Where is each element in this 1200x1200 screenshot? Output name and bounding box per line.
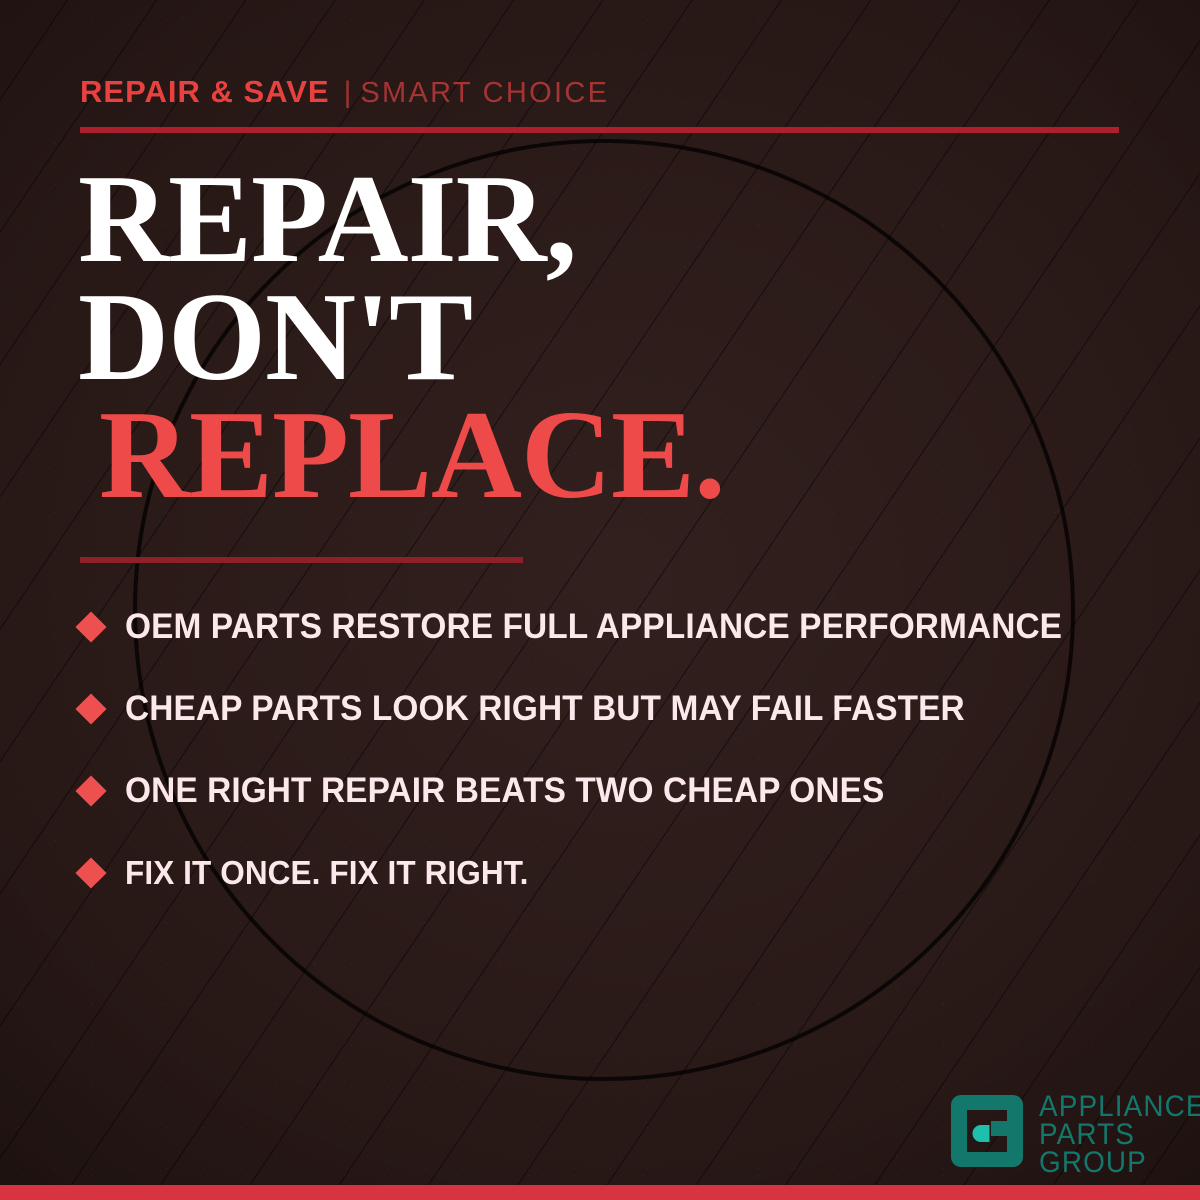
diamond-bullet-icon xyxy=(75,775,106,806)
list-item: ONE RIGHT REPAIR BEATS TWO CHEAP ONES xyxy=(80,750,1150,832)
headline-line-3: REPLACE. xyxy=(99,397,725,515)
headline-divider-rule xyxy=(80,557,523,563)
diamond-bullet-icon xyxy=(75,693,106,724)
list-item-label: FIX IT ONCE. FIX IT RIGHT. xyxy=(125,854,528,892)
brand-line-2: PARTS xyxy=(1039,1121,1200,1149)
list-item: FIX IT ONCE. FIX IT RIGHT. xyxy=(80,832,1150,914)
brand-line-3: GROUP xyxy=(1039,1149,1200,1177)
kicker-eyebrow: REPAIR & SAVE | SMART CHOICE xyxy=(80,74,609,110)
header-divider-rule xyxy=(80,127,1119,133)
brand-line-1: APPLIANCE xyxy=(1039,1093,1200,1121)
list-item-label: OEM PARTS RESTORE FULL APPLIANCE PERFORM… xyxy=(125,607,1062,647)
list-item: CHEAP PARTS LOOK RIGHT BUT MAY FAIL FAST… xyxy=(80,668,1150,750)
kicker-main-label: REPAIR & SAVE xyxy=(80,74,330,110)
kicker-separator: | xyxy=(344,76,352,110)
page-title: REPAIR, DON'T REPLACE. xyxy=(78,161,725,514)
brand-logo: APPLIANCE PARTS GROUP xyxy=(948,1091,1200,1177)
bottom-accent-bar xyxy=(0,1185,1200,1200)
poster-canvas: REPAIR & SAVE | SMART CHOICE REPAIR, DON… xyxy=(0,0,1200,1200)
diamond-bullet-icon xyxy=(75,611,106,642)
diamond-bullet-icon xyxy=(75,857,106,888)
kicker-sub-label: SMART CHOICE xyxy=(360,77,609,110)
list-item: OEM PARTS RESTORE FULL APPLIANCE PERFORM… xyxy=(80,586,1150,668)
list-item-label: CHEAP PARTS LOOK RIGHT BUT MAY FAIL FAST… xyxy=(125,689,965,729)
list-item-label: ONE RIGHT REPAIR BEATS TWO CHEAP ONES xyxy=(125,771,884,811)
poster-content: REPAIR & SAVE | SMART CHOICE REPAIR, DON… xyxy=(0,0,1200,1200)
g-monogram-icon xyxy=(948,1091,1026,1171)
brand-wordmark: APPLIANCE PARTS GROUP xyxy=(1039,1091,1200,1177)
headline-line-2: DON'T xyxy=(78,279,725,397)
benefits-list: OEM PARTS RESTORE FULL APPLIANCE PERFORM… xyxy=(80,586,1150,914)
headline-line-1: REPAIR, xyxy=(78,161,725,279)
